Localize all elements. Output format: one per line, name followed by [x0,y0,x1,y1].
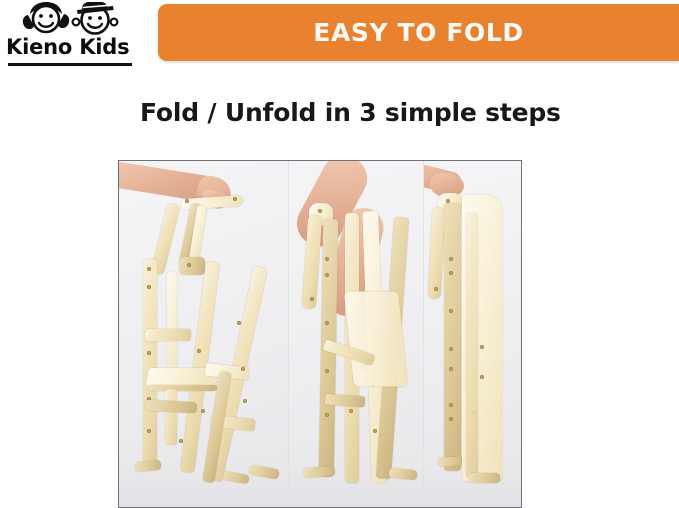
girl-face-icon [23,2,69,32]
screw [197,349,201,353]
back-rail [145,329,191,341]
seat-edge [146,385,217,391]
screw [187,263,191,267]
two-kids-faces-icon [20,2,130,38]
screw [201,409,205,413]
subtitle-text: Fold / Unfold in 3 simple steps [140,98,561,127]
step-2-photo: Tower half folded, hand reaching through… [288,161,423,507]
screw [185,199,189,203]
page-header: Kieno Kids EASY TO FOLD [0,0,679,80]
folded-rail-inner [466,213,478,477]
brand-logo: Kieno Kids [6,2,146,74]
folded-seat-panel [344,291,408,386]
folded-rail-left [444,203,461,471]
brand-name: Kieno Kids [6,35,138,59]
seat-support-leg [165,389,177,445]
banner-title: EASY TO FOLD [313,18,523,47]
screw [233,197,237,201]
step-2-caption: Tower half folded, hand reaching through… [289,161,290,162]
screw [237,321,241,325]
brand-underline [8,63,132,66]
screw [147,267,151,271]
foot-left [438,456,465,467]
fold-steps-photo-strip: Unfolded wooden learning tower held by a… [118,160,522,508]
hinge-block [179,257,205,275]
easy-to-fold-banner: EASY TO FOLD [158,4,679,61]
step-1-photo: Unfolded wooden learning tower held by a… [119,161,288,507]
step-3-caption: Tower fully folded flat and carried by t… [424,161,425,162]
screw [241,367,245,371]
swing-arm [428,207,446,300]
boy-face-icon [73,2,118,34]
screw [147,351,151,355]
front-post-left [143,259,157,467]
screw [179,439,183,443]
foot-right [468,473,500,483]
screw [147,285,151,289]
screw [243,399,247,403]
screw [147,429,151,433]
step-3-photo: Tower fully folded flat and carried by t… [423,161,521,507]
